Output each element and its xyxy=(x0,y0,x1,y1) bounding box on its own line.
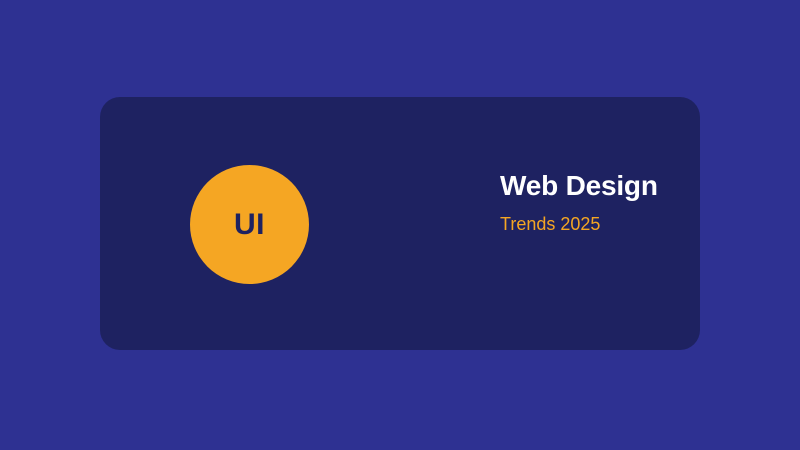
page-canvas: UI Web Design Trends 2025 xyxy=(0,0,800,450)
card-text-block: Web Design Trends 2025 xyxy=(500,169,700,236)
card-subtitle: Trends 2025 xyxy=(500,212,700,236)
card-title: Web Design xyxy=(500,169,700,203)
ui-circle-badge-label: UI xyxy=(234,210,265,240)
feature-card[interactable]: UI Web Design Trends 2025 xyxy=(100,97,700,350)
ui-circle-badge: UI xyxy=(190,165,309,284)
